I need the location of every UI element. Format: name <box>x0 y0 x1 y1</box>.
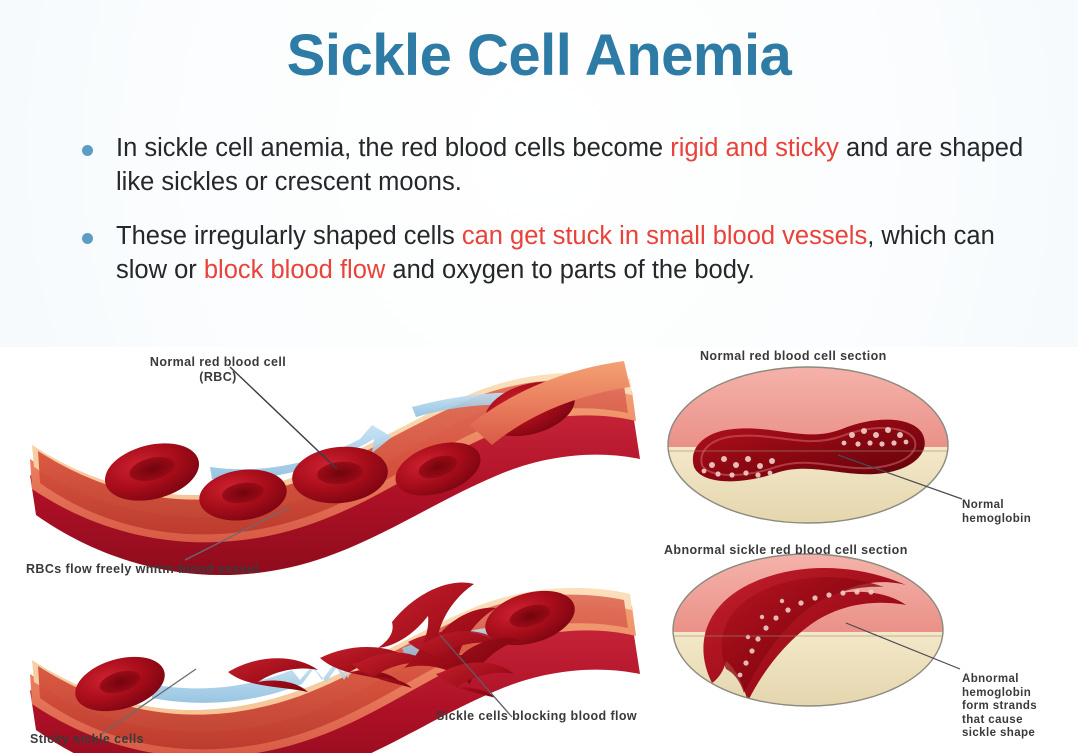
bullet-dot-icon <box>82 145 93 156</box>
page-title: Sickle Cell Anemia <box>0 22 1078 89</box>
label-sticky-sickle-cells: Sticky sickle cells <box>30 732 144 747</box>
label-abnormal-section: Abnormal sickle red blood cell section <box>664 543 908 558</box>
bullet-2-seg-3: block blood flow <box>204 256 385 284</box>
bullet-dot-icon <box>82 233 93 244</box>
label-rbcs-flow-freely: RBCs flow freely whitin blood vessel <box>26 562 259 577</box>
bullet-2-seg-1: can get stuck in small blood vessels <box>462 222 867 250</box>
bullet-1-seg-1: rigid and sticky <box>670 134 839 162</box>
bullet-2-seg-4: and oxygen to parts of the body. <box>385 256 755 284</box>
bullet-1-seg-0: In sickle cell anemia, the red blood cel… <box>116 134 670 162</box>
label-normal-rbc: Normal red blood cell (RBC) <box>108 355 328 385</box>
sickle-rbc-section <box>668 552 958 712</box>
sickle-vessel-illustration <box>30 581 640 753</box>
list-item: These irregularly shaped cells can get s… <box>68 219 1028 287</box>
bullet-1-text: In sickle cell anemia, the red blood cel… <box>116 134 1023 196</box>
bullet-list: In sickle cell anemia, the red blood cel… <box>68 131 1028 308</box>
list-item: In sickle cell anemia, the red blood cel… <box>68 131 1028 199</box>
label-sickle-blocking-flow: Sickle cells blocking blood flow <box>436 709 637 724</box>
label-normal-hemoglobin: Normal hemoglobin <box>962 499 1031 526</box>
bullet-2-seg-0: These irregularly shaped cells <box>116 222 462 250</box>
bullet-2-text: These irregularly shaped cells can get s… <box>116 222 995 284</box>
label-abnormal-hemoglobin: Abnormal hemoglobin form strands that ca… <box>962 673 1037 741</box>
sickle-cell-diagram: Normal red blood cell (RBC) RBCs flow fr… <box>0 347 1078 753</box>
label-normal-section: Normal red blood cell section <box>700 349 887 364</box>
normal-rbc-section <box>660 365 960 529</box>
slide-root: Sickle Cell Anemia In sickle cell anemia… <box>0 0 1078 753</box>
diagram-svg <box>0 347 1078 753</box>
